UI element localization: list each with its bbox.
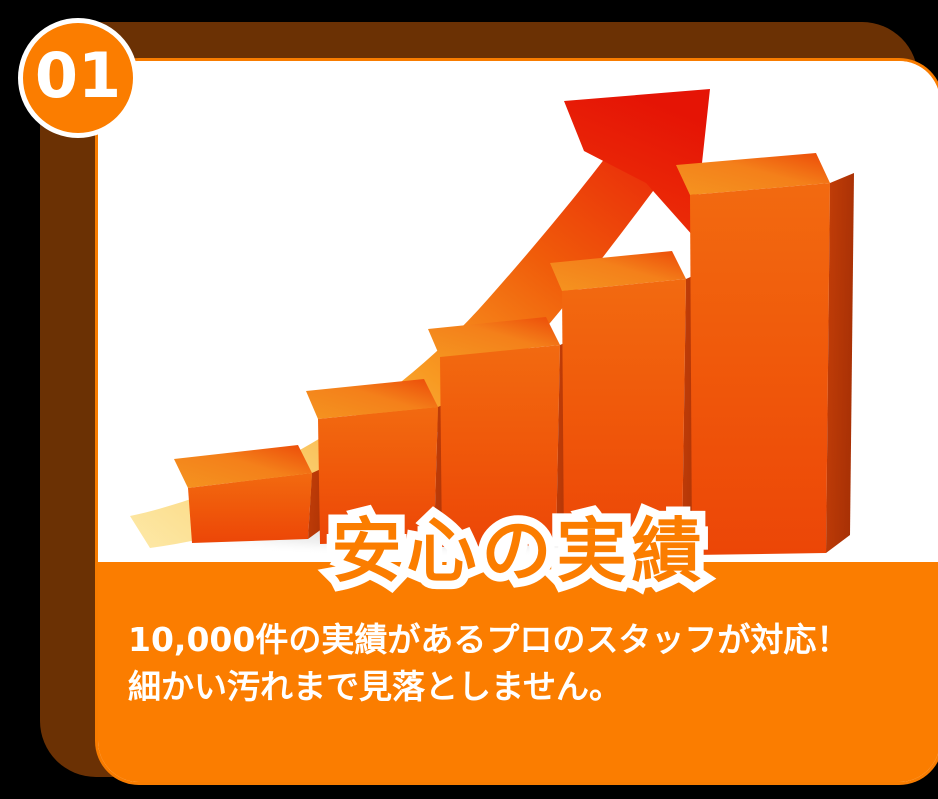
step-number-badge: 01	[18, 18, 138, 138]
card-surface: 安心の実績 10,000件の実績があるプロのスタッフが対応！ 細かい汚れまで見落…	[98, 61, 938, 782]
card-body-copy: 10,000件の実績があるプロのスタッフが対応！ 細かい汚れまで見落としません。	[128, 617, 918, 711]
body-line-2: 細かい汚れまで見落としません。	[128, 664, 918, 711]
chart-bar-4	[550, 251, 708, 549]
card-outer-frame: 安心の実績 10,000件の実績があるプロのスタッフが対応！ 細かい汚れまで見落…	[40, 22, 918, 777]
card-headline: 安心の実績	[98, 516, 938, 586]
step-number-label: 01	[35, 45, 121, 107]
chart-bar-5	[676, 153, 854, 555]
growth-chart-illustration	[98, 61, 938, 562]
body-line-1: 10,000件の実績があるプロのスタッフが対応！	[128, 617, 918, 664]
screenshot-stage: 安心の実績 10,000件の実績があるプロのスタッフが対応！ 細かい汚れまで見落…	[0, 0, 938, 799]
illustration-area	[98, 61, 938, 562]
